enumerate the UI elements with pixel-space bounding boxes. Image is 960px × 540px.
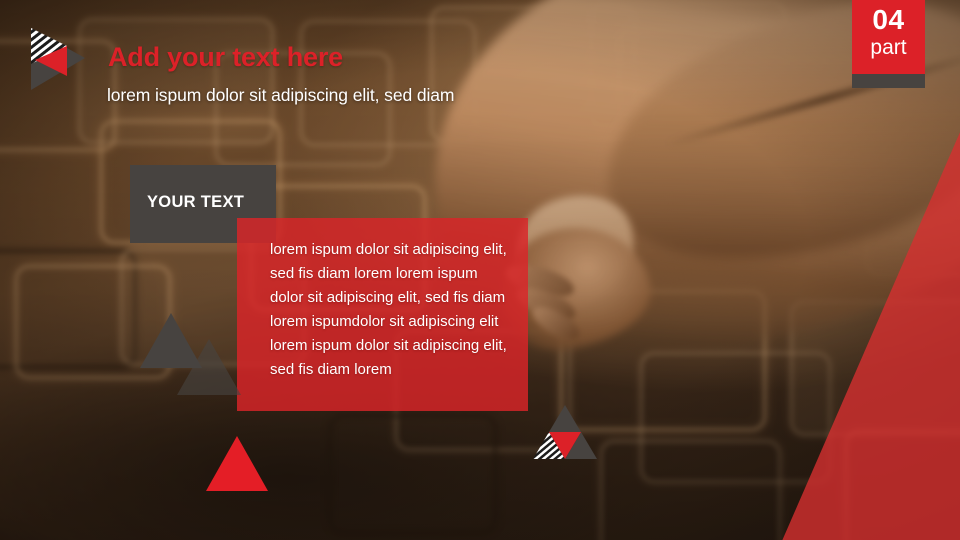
part-badge-body: 04 part	[852, 0, 925, 74]
body-text-card: lorem ispum dolor sit adipiscing elit, s…	[237, 218, 528, 411]
part-label: part	[852, 36, 925, 60]
part-badge: 04 part	[852, 0, 925, 88]
triangle-icon-red-solid	[206, 436, 268, 491]
body-text-card-paragraph: lorem ispum dolor sit adipiscing elit, s…	[270, 238, 514, 382]
presentation-slide: 04 part Add your text here lorem ispum d…	[0, 0, 960, 540]
part-number: 04	[852, 4, 925, 36]
part-badge-footer-bar	[852, 74, 925, 88]
page-subtitle: lorem ispum dolor sit adipiscing elit, s…	[107, 85, 454, 106]
sierpinski-triangle-icon	[533, 404, 597, 460]
triangle-icon-gray-translucent	[177, 339, 241, 395]
striped-arrow-triangle-logo	[27, 26, 89, 92]
your-text-card-title: YOUR TEXT	[147, 193, 244, 212]
page-title: Add your text here	[108, 42, 343, 73]
